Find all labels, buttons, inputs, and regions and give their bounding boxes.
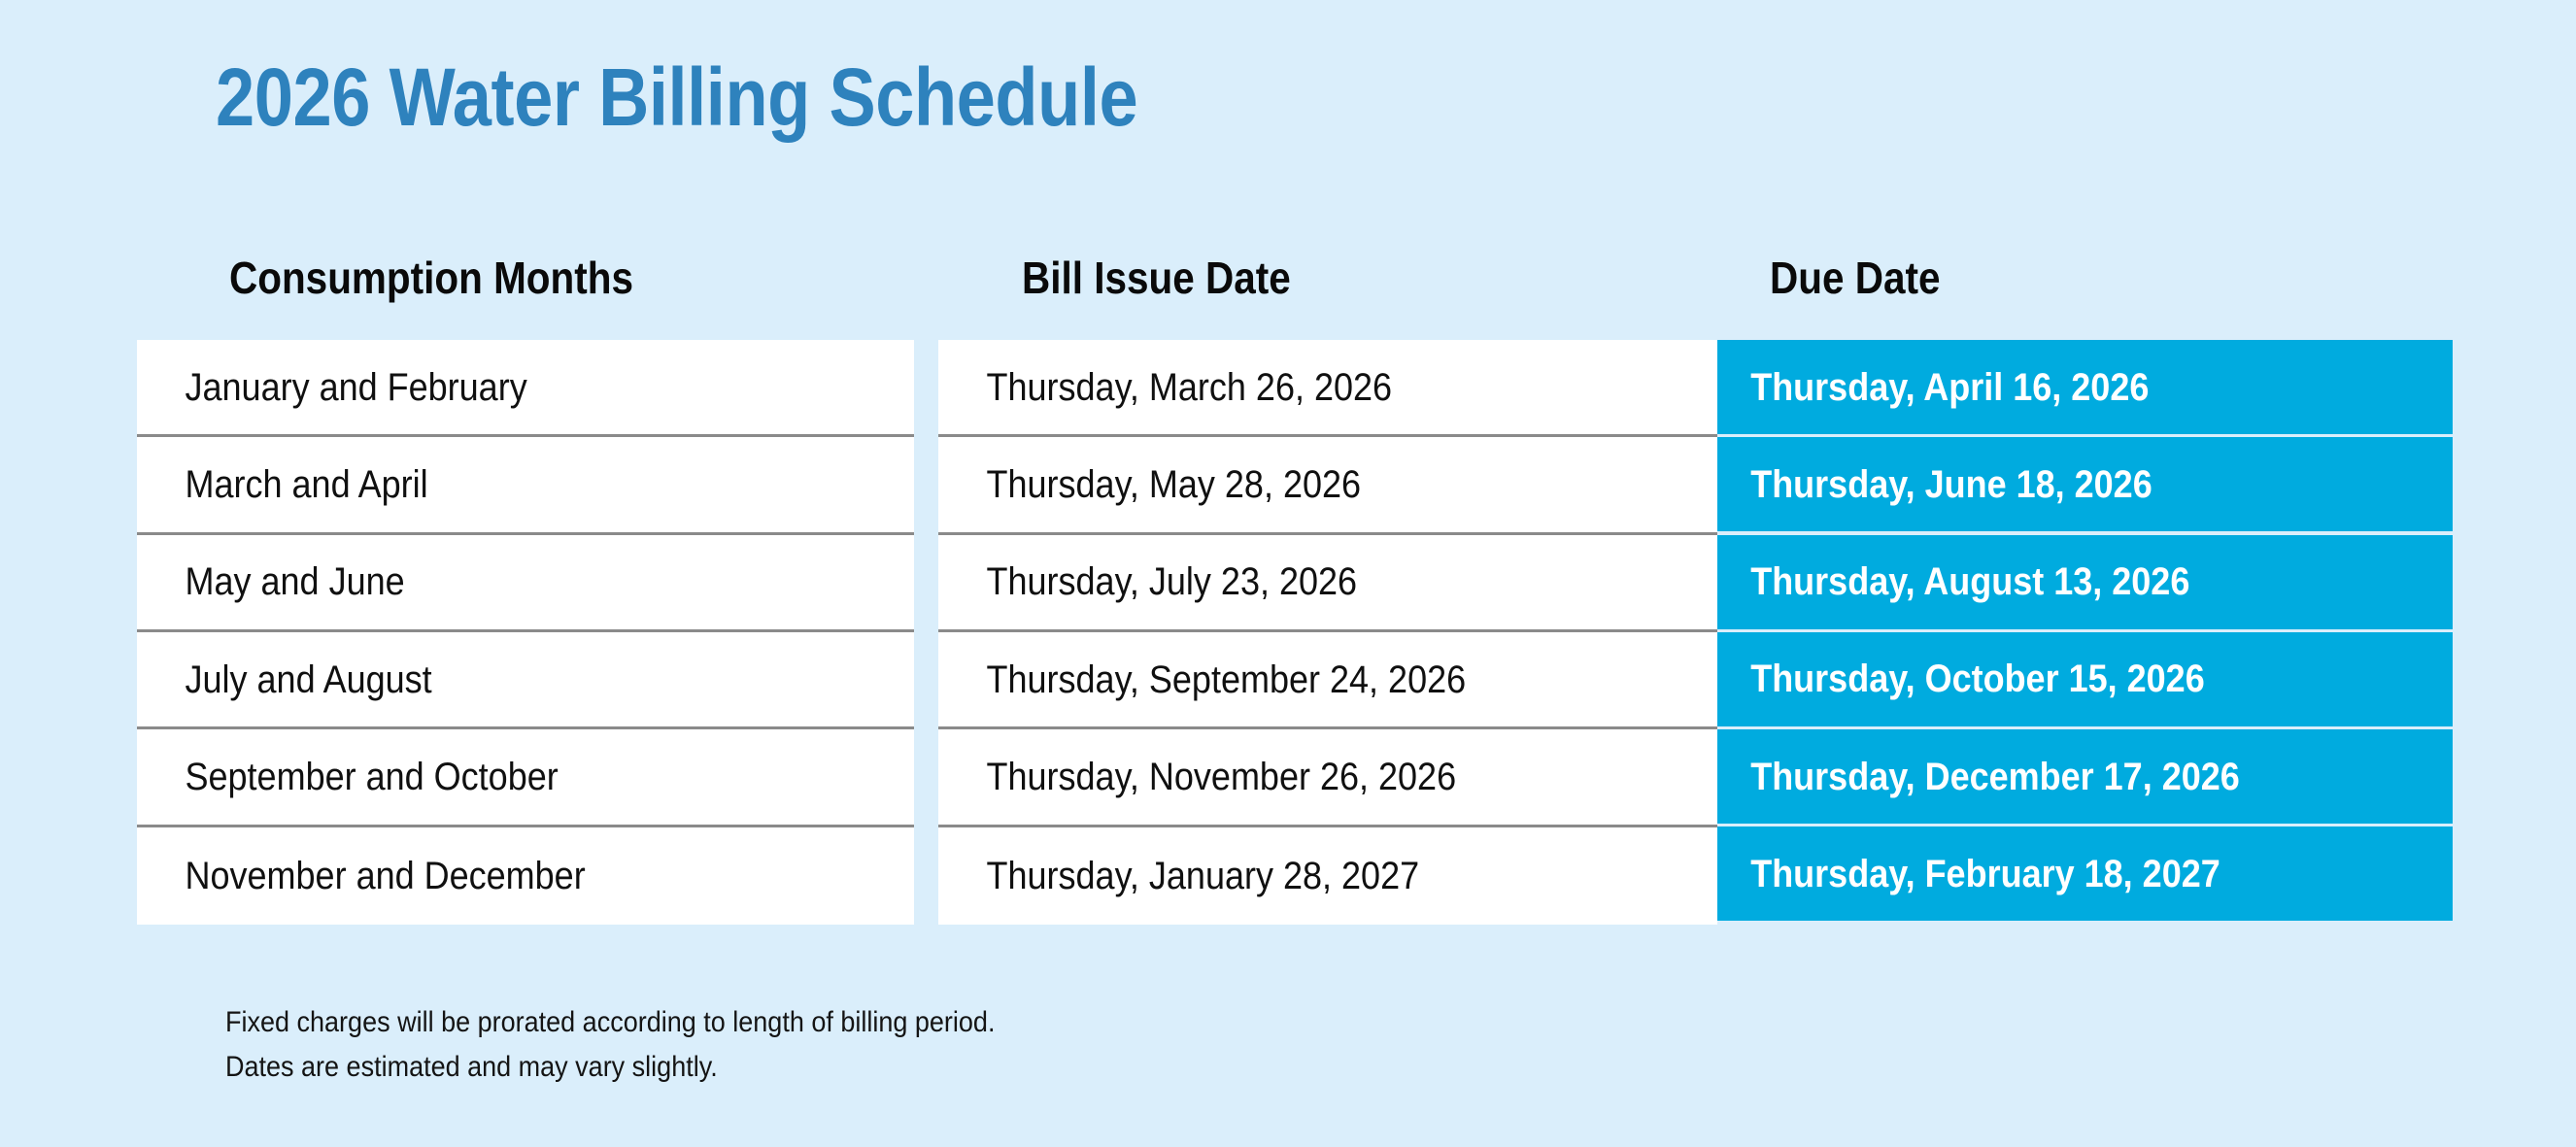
cell-bill-issue-date: Thursday, May 28, 2026 [938, 462, 1361, 507]
table-row: Thursday, June 18, 2026 [1717, 437, 2453, 531]
column-consumption-months: January and February March and April May… [137, 340, 914, 925]
table-row: Thursday, December 17, 2026 [1717, 729, 2453, 824]
cell-consumption-months: January and February [137, 365, 527, 410]
table-row: Thursday, January 28, 2027 [938, 827, 1717, 925]
footnotes: Fixed charges will be prorated according… [225, 1000, 1081, 1090]
table-row: May and June [137, 535, 914, 632]
footnote-estimated: Dates are estimated and may vary slightl… [225, 1045, 995, 1090]
table-row: Thursday, March 26, 2026 [938, 340, 1717, 437]
table-row: Thursday, May 28, 2026 [938, 437, 1717, 534]
table-row: January and February [137, 340, 914, 437]
cell-consumption-months: November and December [137, 854, 586, 898]
table-row: Thursday, October 15, 2026 [1717, 632, 2453, 726]
cell-due-date: Thursday, June 18, 2026 [1717, 462, 2152, 507]
cell-due-date: Thursday, February 18, 2027 [1717, 852, 2220, 896]
table-row: July and August [137, 632, 914, 729]
cell-consumption-months: May and June [137, 559, 405, 604]
column-header-due-date: Due Date [1770, 251, 1940, 305]
page-title: 2026 Water Billing Schedule [216, 51, 1137, 144]
cell-due-date: Thursday, August 13, 2026 [1717, 559, 2189, 604]
cell-bill-issue-date: Thursday, September 24, 2026 [938, 658, 1466, 702]
cell-due-date: Thursday, December 17, 2026 [1717, 755, 2240, 799]
table-row: Thursday, July 23, 2026 [938, 535, 1717, 632]
cell-consumption-months: March and April [137, 462, 428, 507]
table-row: Thursday, November 26, 2026 [938, 729, 1717, 827]
cell-bill-issue-date: Thursday, July 23, 2026 [938, 559, 1357, 604]
table-row: Thursday, August 13, 2026 [1717, 535, 2453, 629]
cell-due-date: Thursday, April 16, 2026 [1717, 365, 2149, 410]
cell-bill-issue-date: Thursday, January 28, 2027 [938, 854, 1419, 898]
cell-bill-issue-date: Thursday, November 26, 2026 [938, 755, 1456, 799]
column-header-bill-issue-date: Bill Issue Date [1022, 251, 1291, 305]
column-bill-issue-date: Thursday, March 26, 2026 Thursday, May 2… [938, 340, 1717, 925]
cell-consumption-months: September and October [137, 755, 559, 799]
table-row: Thursday, April 16, 2026 [1717, 340, 2453, 434]
billing-schedule-page: 2026 Water Billing Schedule Consumption … [0, 0, 2576, 1147]
table-row: September and October [137, 729, 914, 827]
table-row: Thursday, February 18, 2027 [1717, 827, 2453, 921]
cell-consumption-months: July and August [137, 658, 432, 702]
cell-due-date: Thursday, October 15, 2026 [1717, 657, 2205, 701]
table-row: November and December [137, 827, 914, 925]
billing-schedule-table: January and February March and April May… [137, 340, 2453, 925]
column-due-date: Thursday, April 16, 2026 Thursday, June … [1717, 340, 2453, 925]
column-header-consumption-months: Consumption Months [229, 251, 633, 305]
footnote-prorated: Fixed charges will be prorated according… [225, 1000, 995, 1045]
cell-bill-issue-date: Thursday, March 26, 2026 [938, 365, 1392, 410]
table-row: Thursday, September 24, 2026 [938, 632, 1717, 729]
table-header-row: Consumption Months Bill Issue Date Due D… [0, 251, 2576, 311]
table-row: March and April [137, 437, 914, 534]
